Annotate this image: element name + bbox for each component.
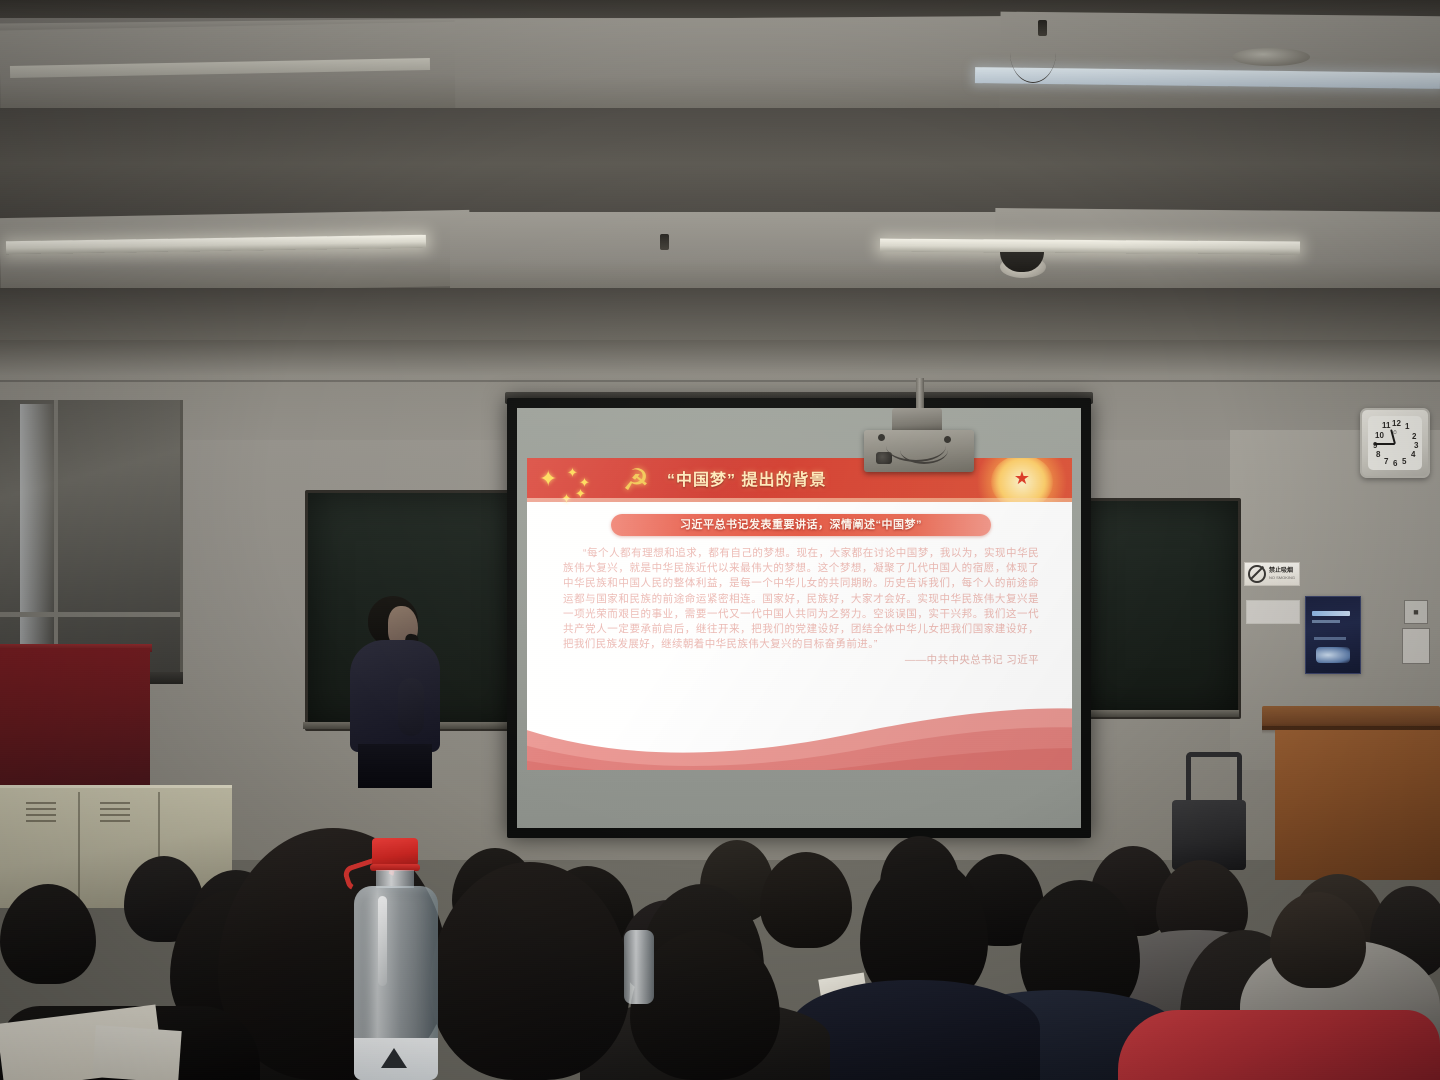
presenter-arm: [398, 678, 424, 736]
second-water-bottle: [624, 930, 654, 1004]
poster-graphic: [1316, 647, 1350, 663]
ceiling-gap-mid: [0, 108, 1440, 220]
locker-vent-right: [100, 802, 130, 826]
bottle-cap: [372, 838, 418, 866]
sprinkler-head-mid: [660, 234, 669, 250]
notebook-page: [92, 1025, 181, 1080]
ceiling-panel-c: [999, 12, 1440, 121]
podium: [1275, 730, 1440, 880]
fire-extinguisher-sign: ■: [1400, 600, 1430, 662]
hammer-sickle-icon: ☭: [615, 463, 657, 499]
clock-num-7: 7: [1384, 458, 1388, 466]
poster-subheading-bar: [1312, 620, 1340, 623]
fire-extinguisher-icon: ■: [1404, 600, 1428, 624]
ceiling-gap-low: [0, 288, 1440, 348]
audience-red-jacket: [1118, 1010, 1440, 1080]
flag-star-1: ✦: [567, 466, 578, 479]
ceiling-panel-e: [450, 212, 1010, 292]
slide-attribution: ——中共中央总书记 习近平: [563, 653, 1039, 668]
blackboard-right: [1075, 498, 1241, 719]
bottle-highlight: [378, 896, 387, 986]
window-mullion-vertical: [54, 400, 58, 680]
locker-seam: [78, 792, 80, 904]
wall-clock: ⏱ 12 1 2 3 4 5 6 7 8 9 10 11: [1360, 408, 1430, 478]
projector-mount-pole: [916, 378, 924, 412]
slide-quote: “每个人都有理想和追求，都有自己的梦想。现在，大家都在讨论中国梦，我以为，实现中…: [563, 547, 1039, 650]
no-smoking-sublabel: NO SMOKING: [1269, 575, 1295, 580]
audience-head: [760, 852, 852, 948]
projector-cable-2: [900, 436, 948, 464]
wall-seam: [0, 380, 1440, 382]
clock-num-12: 12: [1392, 420, 1401, 428]
clock-num-5: 5: [1402, 458, 1406, 466]
window-mullion-horizontal: [0, 612, 180, 617]
clock-minute-hand: [1374, 443, 1395, 445]
ceiling-vent: [1232, 48, 1310, 66]
lecture-hall-photo: 禁止吸烟 NO SMOKING ■ ⏱ 12 1 2 3 4 5 6 7 8 9…: [0, 0, 1440, 1080]
sunburst-emblem: ★: [972, 458, 1072, 502]
flag-star-large: ✦: [539, 468, 557, 490]
clock-num-3: 3: [1414, 442, 1418, 450]
flag-star-4: ✦: [561, 492, 572, 505]
ceiling-wire: [1010, 22, 1056, 83]
bottle-logo-icon: [381, 1048, 407, 1068]
slide-wave-decoration: [527, 690, 1072, 770]
slide-banner: 习近平总书记发表重要讲话，深情阐述“中国梦”: [611, 514, 991, 536]
suitcase: [1172, 800, 1246, 870]
poster-heading-bar: [1312, 611, 1350, 616]
clock-num-2: 2: [1412, 433, 1416, 441]
clock-num-4: 4: [1411, 451, 1415, 459]
clock-num-1: 1: [1405, 423, 1409, 431]
presentation-slide: ✦ ✦ ✦ ✦ ✦ ☭ “中国梦” 提出的背景 ★ 习近平总书记发表重要讲话，深…: [527, 458, 1072, 770]
presenter-torso: [350, 640, 440, 752]
locker-vent-left: [26, 802, 56, 826]
clock-num-10: 10: [1375, 432, 1384, 440]
fire-extinguisher-box: [1402, 628, 1430, 664]
projector-cable-clip-1: [878, 434, 885, 441]
clock-face: ⏱ 12 1 2 3 4 5 6 7 8 9 10 11: [1368, 416, 1422, 470]
window-glare: [20, 404, 54, 664]
slide-body-text: “每个人都有理想和追求，都有自己的梦想。现在，大家都在讨论中国梦，我以为，实现中…: [563, 546, 1039, 669]
presenter-lower-body: [358, 744, 432, 788]
water-bottle: [340, 838, 448, 1080]
clock-num-8: 8: [1376, 451, 1380, 459]
slide-header-bar: ✦ ✦ ✦ ✦ ✦ ☭ “中国梦” 提出的背景 ★: [527, 458, 1072, 502]
sunburst-star-icon: ★: [1014, 469, 1030, 487]
clock-num-6: 6: [1393, 460, 1397, 468]
no-smoking-icon: [1248, 565, 1266, 583]
secondary-wall-sign: [1246, 600, 1300, 624]
red-cabinet: [0, 648, 150, 798]
ceiling-panel-b: [455, 16, 1016, 116]
suitcase-handle: [1186, 752, 1242, 807]
no-smoking-sign: 禁止吸烟 NO SMOKING: [1244, 562, 1300, 586]
wall-poster: [1305, 596, 1361, 674]
presenter: [344, 596, 448, 786]
clock-num-11: 11: [1382, 422, 1390, 430]
flag-star-3: ✦: [575, 487, 586, 500]
no-smoking-label: 禁止吸烟: [1269, 568, 1295, 575]
window: [0, 400, 183, 680]
extinguisher-glyph: ■: [1413, 607, 1418, 617]
poster-text-bar: [1314, 637, 1346, 640]
